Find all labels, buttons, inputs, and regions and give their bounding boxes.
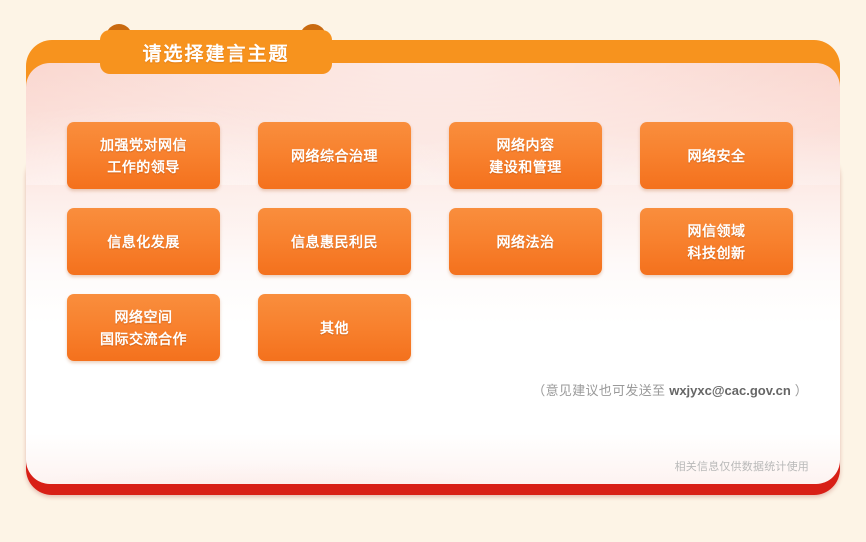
topic-button-line: 网络空间	[115, 306, 173, 328]
topic-button-line: 其他	[320, 317, 349, 339]
topic-button-rule-of-law[interactable]: 网络法治	[449, 208, 602, 275]
topic-button-other[interactable]: 其他	[258, 294, 411, 361]
topic-button-line: 加强党对网信	[100, 134, 187, 156]
topic-button-line: 网络法治	[497, 231, 555, 253]
topic-grid: 加强党对网信 工作的领导 网络综合治理 网络内容 建设和管理 网络安全 信息化发…	[67, 122, 827, 380]
topic-button-benefit-people[interactable]: 信息惠民利民	[258, 208, 411, 275]
email-note: （意见建议也可发送至 wxjyxc@cac.gov.cn ）	[532, 380, 808, 399]
topic-button-line: 信息化发展	[107, 231, 180, 253]
topic-row: 加强党对网信 工作的领导 网络综合治理 网络内容 建设和管理 网络安全	[67, 122, 827, 189]
topic-button-comprehensive-governance[interactable]: 网络综合治理	[258, 122, 411, 189]
topic-button-line: 网络内容	[497, 134, 555, 156]
topic-button-line: 国际交流合作	[100, 328, 187, 350]
topic-button-party-leadership[interactable]: 加强党对网信 工作的领导	[67, 122, 220, 189]
banner-ribbon: 请选择建言主题	[100, 24, 332, 72]
fine-print-note: 相关信息仅供数据统计使用	[675, 458, 809, 474]
topic-button-line: 信息惠民利民	[291, 231, 378, 253]
banner-title: 请选择建言主题	[142, 39, 289, 66]
topic-row: 信息化发展 信息惠民利民 网络法治 网信领域 科技创新	[67, 208, 827, 275]
topic-button-line: 科技创新	[688, 242, 746, 264]
email-note-suffix: ）	[791, 383, 808, 398]
topic-button-line: 网络安全	[688, 145, 746, 167]
topic-button-line: 网信领域	[688, 220, 746, 242]
topic-button-line: 工作的领导	[107, 156, 180, 178]
topic-button-international-cooperation[interactable]: 网络空间 国际交流合作	[67, 294, 220, 361]
topic-button-tech-innovation[interactable]: 网信领域 科技创新	[640, 208, 793, 275]
page-stage: 加强党对网信 工作的领导 网络综合治理 网络内容 建设和管理 网络安全 信息化发…	[0, 0, 866, 542]
topic-button-line: 建设和管理	[489, 156, 562, 178]
topic-button-network-security[interactable]: 网络安全	[640, 122, 793, 189]
topic-button-line: 网络综合治理	[291, 145, 378, 167]
email-address[interactable]: wxjyxc@cac.gov.cn	[669, 383, 791, 398]
topic-selection-card: 加强党对网信 工作的领导 网络综合治理 网络内容 建设和管理 网络安全 信息化发…	[26, 63, 840, 484]
topic-button-content-construction[interactable]: 网络内容 建设和管理	[449, 122, 602, 189]
topic-button-informatization[interactable]: 信息化发展	[67, 208, 220, 275]
email-note-prefix: （意见建议也可发送至	[532, 383, 669, 398]
ribbon-body: 请选择建言主题	[100, 30, 332, 74]
topic-row: 网络空间 国际交流合作 其他	[67, 294, 827, 361]
